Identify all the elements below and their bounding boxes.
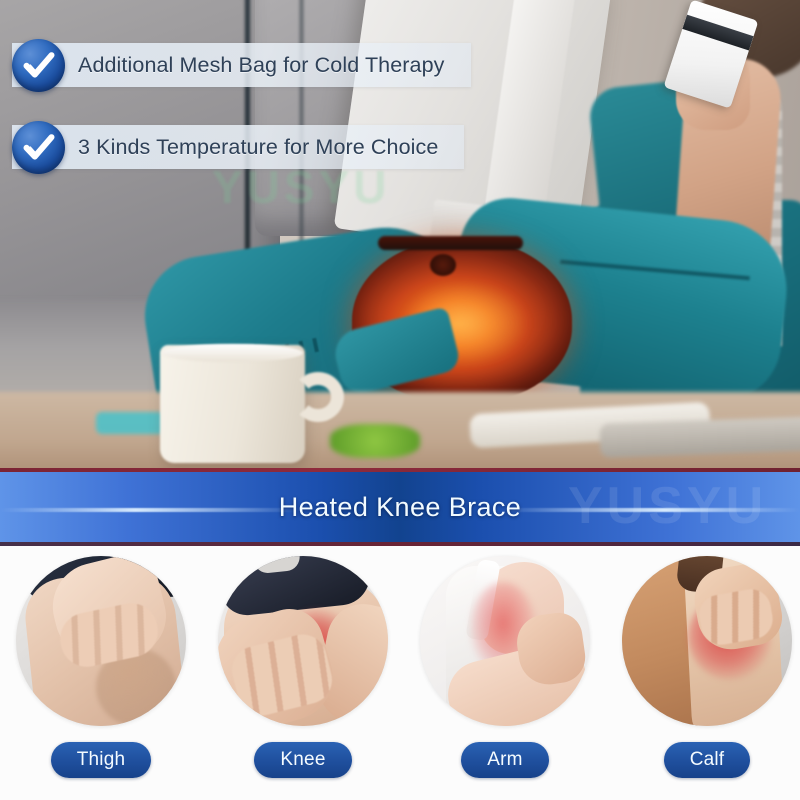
title-banner: YUSYU Heated Knee Brace [0,468,800,546]
teal-object [96,412,166,434]
green-plant-blur [330,424,420,458]
feature-item-1: Additional Mesh Bag for Cold Therapy [12,43,471,87]
use-case-gallery: Thigh Knee [0,546,800,800]
grey-object-blur [599,416,800,458]
coffee-mug-rim [162,344,303,362]
use-case-calf[interactable]: Calf [612,546,800,778]
hand-on-calf-pain-photo [622,556,792,726]
product-marketing-image: YUSYU Additional Mesh Bag for Cold Thera… [0,0,800,800]
use-case-label-knee: Knee [254,742,351,778]
hand-on-shoulder-pain-photo [420,556,590,726]
feature-item-2: 3 Kinds Temperature for More Choice [12,125,464,169]
credit-card-magnetic-stripe [682,15,753,51]
feature-text-2: 3 Kinds Temperature for More Choice [78,135,438,160]
coffee-mug [160,345,305,463]
heated-knee-brace-top-edge [378,236,523,250]
check-icon [12,121,65,174]
use-case-arm[interactable]: Arm [410,546,600,778]
heated-knee-brace-patella-opening [430,254,456,276]
feature-bar-2: 3 Kinds Temperature for More Choice [12,125,464,169]
use-case-label-arm: Arm [461,742,548,778]
hands-on-knee-pain-photo [218,556,388,726]
check-icon [12,39,65,92]
feature-text-1: Additional Mesh Bag for Cold Therapy [78,53,445,78]
product-title: Heated Knee Brace [0,472,800,542]
hand-on-thigh-photo [16,556,186,726]
coffee-mug-handle [292,372,344,422]
use-case-knee[interactable]: Knee [208,546,398,778]
use-case-label-calf: Calf [664,742,751,778]
feature-bar-1: Additional Mesh Bag for Cold Therapy [12,43,471,87]
use-case-thigh[interactable]: Thigh [6,546,196,778]
use-case-label-thigh: Thigh [51,742,152,778]
